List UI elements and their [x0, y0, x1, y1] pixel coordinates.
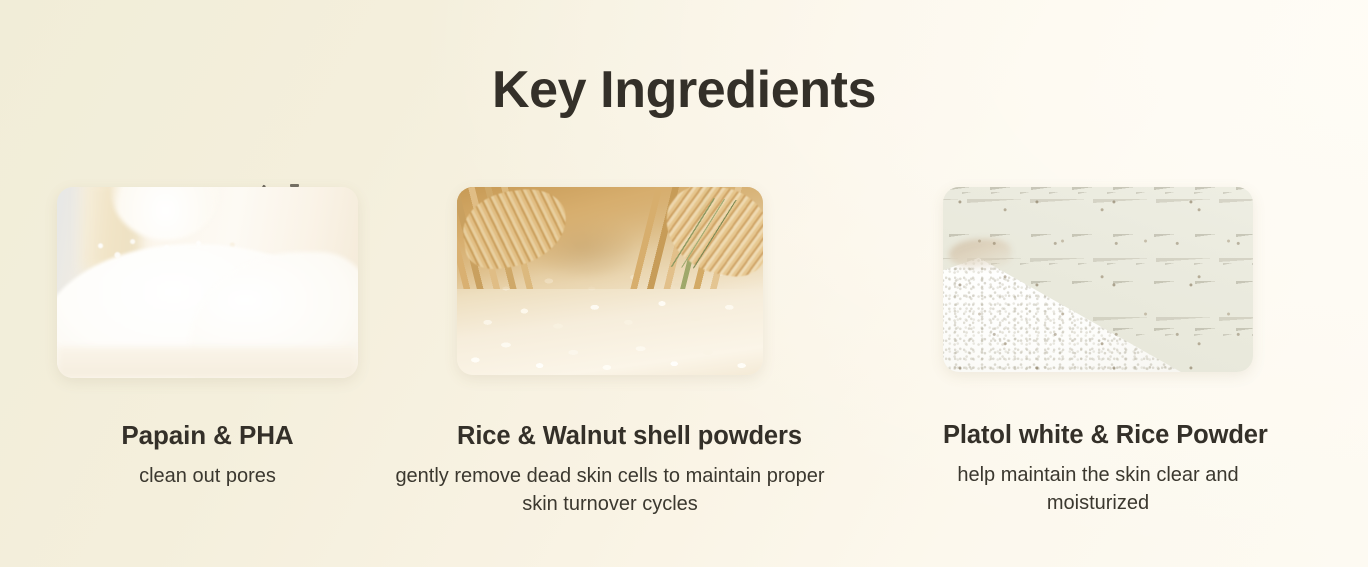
foam-surface-shadow — [57, 347, 358, 378]
page-title: Key Ingredients — [0, 64, 1368, 116]
ingredient-name: Rice & Walnut shell powders — [457, 422, 763, 451]
rice-image-base — [457, 187, 763, 375]
ingredient-caption: Papain & PHA clean out pores — [57, 421, 358, 490]
powder-dark-specks — [943, 187, 1253, 372]
ingredient-description: help maintain the skin clear and moistur… — [907, 461, 1289, 517]
foam-image-base — [57, 187, 358, 378]
ingredient-description: clean out pores — [57, 462, 358, 490]
powder-image-base — [943, 187, 1253, 372]
ingredient-card-platol-rice-powder: Platol white & Rice Powder help maintain… — [905, 187, 1368, 517]
ingredient-card-papain-pha: Papain & PHA clean out pores — [0, 187, 415, 490]
ingredient-caption: Platol white & Rice Powder help maintain… — [943, 421, 1253, 517]
ingredient-description: gently remove dead skin cells to maintai… — [375, 462, 845, 518]
ingredient-caption: Rice & Walnut shell powders gently remov… — [457, 422, 763, 518]
rice-awn-bristles — [657, 195, 754, 273]
ingredient-name: Platol white & Rice Powder — [943, 421, 1253, 450]
ingredient-name: Papain & PHA — [57, 421, 358, 451]
foam-photo — [57, 187, 358, 378]
powder-photo — [943, 187, 1253, 372]
ingredient-card-rice-walnut: Rice & Walnut shell powders gently remov… — [415, 187, 905, 518]
key-ingredients-section: Key Ingredients Papain & PHA clean out p… — [0, 0, 1368, 567]
ingredient-columns: Papain & PHA clean out pores Rice & Waln… — [0, 187, 1368, 518]
rice-photo — [457, 187, 763, 375]
